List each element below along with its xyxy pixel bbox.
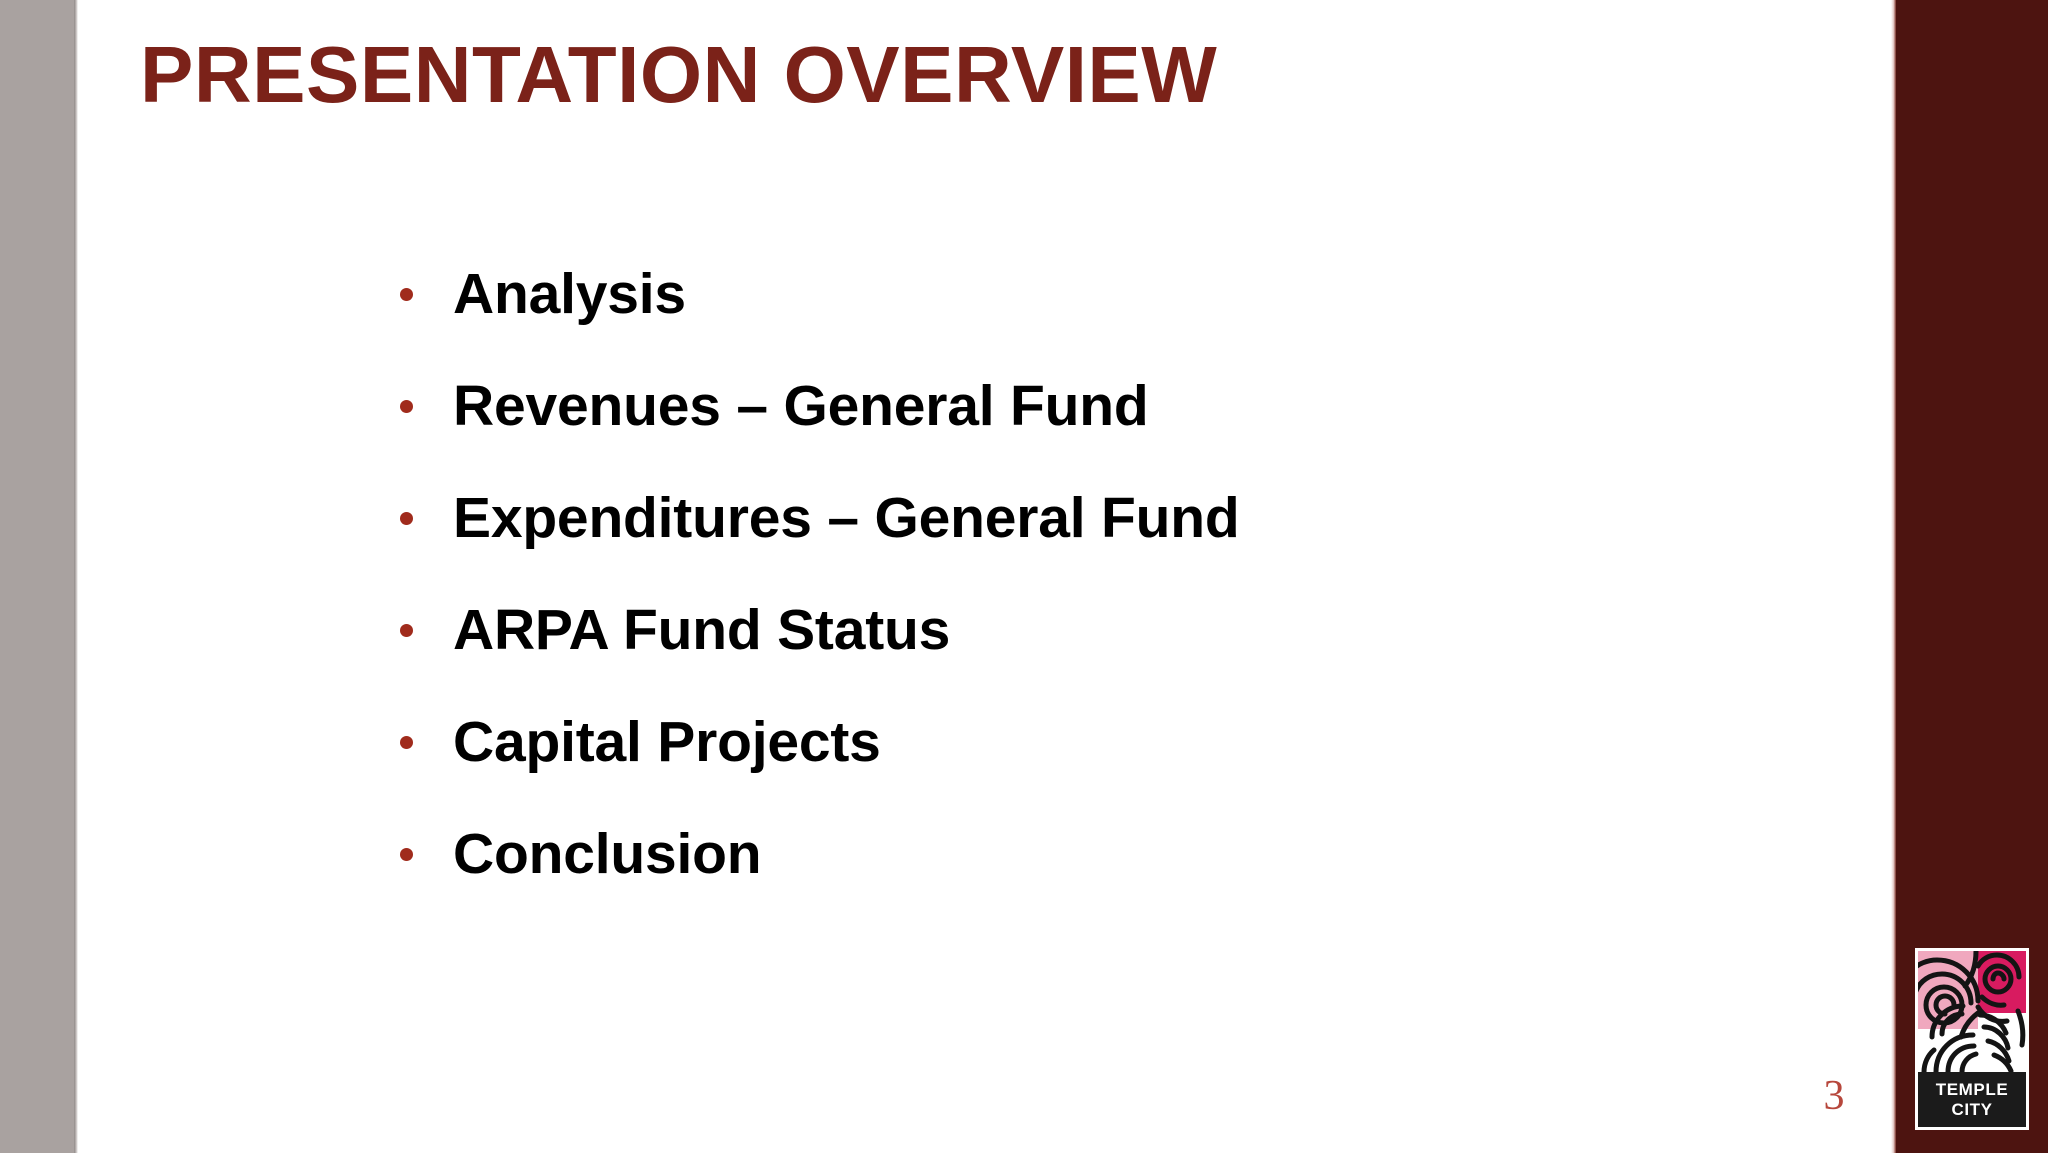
logo-label: TEMPLE CITY <box>1918 1072 2026 1127</box>
logo-inner: TEMPLE CITY <box>1918 951 2026 1127</box>
logo-label-line1: TEMPLE <box>1936 1080 2009 1099</box>
presentation-slide: PRESENTATION OVERVIEW Analysis Revenues … <box>0 0 2048 1153</box>
bullet-dot-icon <box>400 512 413 525</box>
list-item: Expenditures – General Fund <box>400 462 1800 574</box>
page-number: 3 <box>1812 1072 1856 1120</box>
list-item-label: ARPA Fund Status <box>453 597 950 663</box>
rose-emblem-icon <box>1918 951 2026 1072</box>
list-item-label: Conclusion <box>453 821 761 887</box>
bullet-dot-icon <box>400 400 413 413</box>
list-item-label: Analysis <box>453 261 686 327</box>
bullet-list: Analysis Revenues – General Fund Expendi… <box>400 238 1800 910</box>
bullet-dot-icon <box>400 288 413 301</box>
list-item-label: Capital Projects <box>453 709 881 775</box>
list-item: ARPA Fund Status <box>400 574 1800 686</box>
list-item: Analysis <box>400 238 1800 350</box>
bullet-dot-icon <box>400 848 413 861</box>
left-decorative-band <box>0 0 74 1153</box>
logo-label-line2: CITY <box>1951 1100 1992 1119</box>
temple-city-logo: TEMPLE CITY <box>1915 948 2029 1130</box>
list-item: Revenues – General Fund <box>400 350 1800 462</box>
bullet-dot-icon <box>400 624 413 637</box>
left-band-edge <box>74 0 78 1153</box>
list-item: Capital Projects <box>400 686 1800 798</box>
list-item: Conclusion <box>400 798 1800 910</box>
list-item-label: Revenues – General Fund <box>453 373 1148 439</box>
bullet-dot-icon <box>400 736 413 749</box>
slide-title: PRESENTATION OVERVIEW <box>140 33 1840 117</box>
list-item-label: Expenditures – General Fund <box>453 485 1239 551</box>
